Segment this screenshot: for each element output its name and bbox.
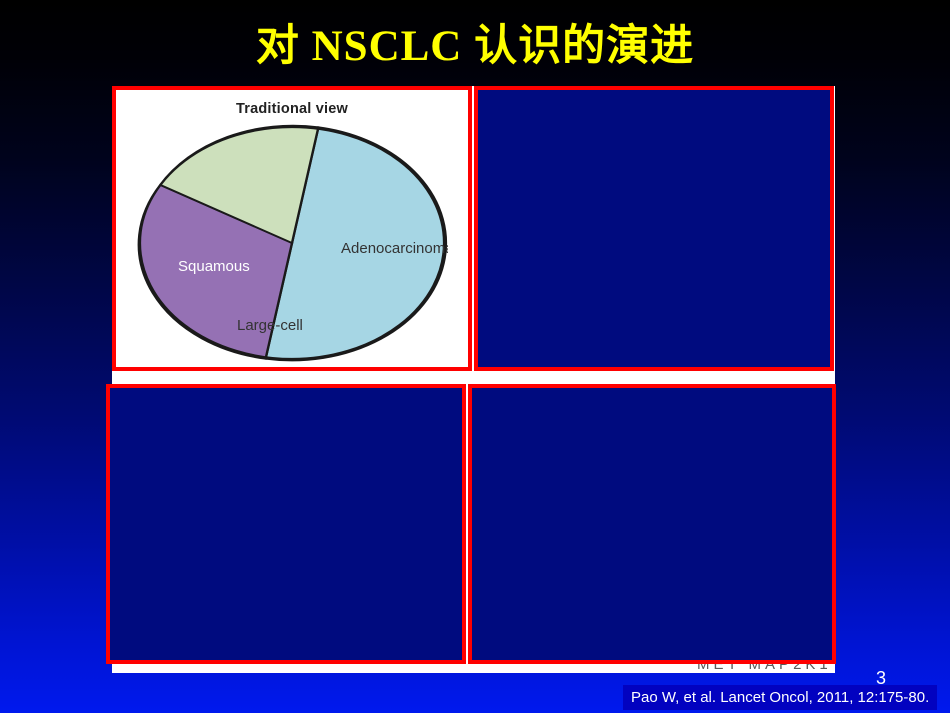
slide-canvas: 对 NSCLC 认识的演进 MET MAP2K1 Mutations assoc… [0, 0, 950, 713]
citation-text: Pao W, et al. Lancet Oncol, 2011, 12:175… [623, 685, 937, 710]
pie-label-adenocarcinoma: Adenocarcinoma [341, 240, 448, 257]
page-number: 3 [876, 668, 886, 688]
figure-title: Traditional view [116, 101, 468, 117]
mutation-bullet-list: Mutations associated with drug sensitivi… [302, 672, 832, 673]
pie-label-large-cell: Large-cell [237, 317, 303, 334]
pie-chart-svg: Adenocarcinoma Squamous Large-cell [136, 124, 448, 362]
panel-bottom-right-masked [468, 384, 836, 664]
pie-label-squamous: Squamous [178, 258, 250, 275]
bullet-heading: Mutations associated with drug sensitivi… [302, 672, 832, 673]
pie-chart: Adenocarcinoma Squamous Large-cell [136, 124, 448, 362]
panel-top-right-masked [474, 86, 834, 371]
page-title: 对 NSCLC 认识的演进 [0, 22, 950, 72]
panel-traditional-view: Traditional view Adenocarcinoma Squamous… [112, 86, 472, 371]
panel-bottom-left-masked [106, 384, 466, 664]
